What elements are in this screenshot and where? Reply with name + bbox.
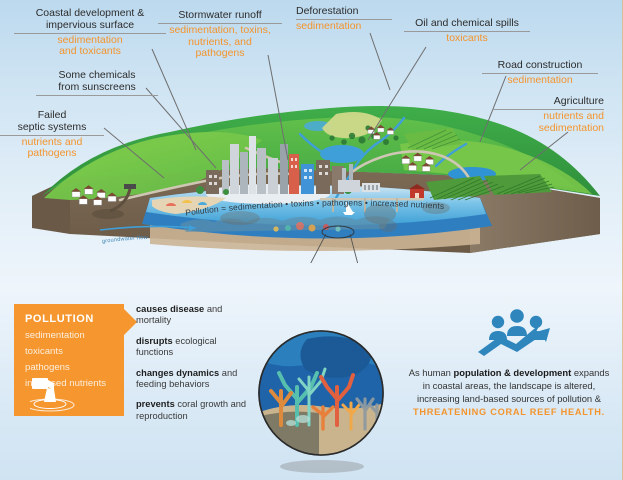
callout-sub: toxicants <box>404 33 530 45</box>
callout-coastal-development: Coastal development & impervious surface… <box>14 8 166 58</box>
effect-item: disrupts ecological functions <box>136 336 251 359</box>
infographic-canvas: groundwater flow Pollution = sedimentati… <box>0 0 623 480</box>
statement-line-1: As human population & development expand… <box>399 366 619 379</box>
callout-title: Oil and chemical spills <box>404 18 530 30</box>
pollution-box-item-pathogens: pathogens <box>14 362 124 373</box>
callout-deforestation: Deforestation sedimentation <box>296 6 392 33</box>
effect-item: prevents coral growth and reproduction <box>136 399 251 422</box>
callout-title: Coastal development & impervious surface <box>14 8 166 32</box>
callout-agriculture: Agriculture nutrients and sedimentation <box>492 96 604 134</box>
callout-sub: nutrients and pathogens <box>0 137 104 161</box>
svg-text:groundwater flow: groundwater flow <box>102 235 149 245</box>
pollution-effects-list: causes disease and mortality disrupts ec… <box>136 304 251 431</box>
pollution-box-item-toxicants: toxicants <box>14 346 124 357</box>
statement-line-2: in coastal areas, the landscape is alter… <box>399 379 619 392</box>
pollution-summary-box: POLLUTION sedimentation toxicants pathog… <box>14 304 124 416</box>
statement-line-4-highlight: THREATENING CORAL REEF HEALTH. <box>399 406 619 419</box>
callout-title: Failed septic systems <box>0 110 104 134</box>
outfall-pipe-icon <box>30 376 96 412</box>
callout-road-construction: Road construction sedimentation <box>482 60 598 87</box>
effect-strong: disrupts <box>136 336 173 346</box>
pollution-box-title: POLLUTION <box>14 304 124 325</box>
statement-text: expands <box>571 367 609 378</box>
callout-sub: sedimentation, toxins, nutrients, and pa… <box>158 25 282 60</box>
callout-title: Deforestation <box>296 6 392 18</box>
population-growth-icon <box>472 308 562 356</box>
callout-title: Agriculture <box>492 96 604 108</box>
statement-emphasis: population & development <box>454 367 572 378</box>
callout-title: Road construction <box>482 60 598 72</box>
statement-text: As human <box>409 367 454 378</box>
callout-sunscreen-chemicals: Some chemicals from sunscreens <box>36 70 158 97</box>
pollution-box-item-sedimentation: sedimentation <box>14 330 124 341</box>
callout-rule <box>36 95 158 96</box>
effect-item: changes dynamics and feeding behaviors <box>136 368 251 391</box>
callout-sub: sedimentation <box>482 75 598 87</box>
groundwater-label: groundwater flow <box>102 235 149 245</box>
statement-line-3: increasing land-based sources of polluti… <box>399 392 619 405</box>
population-statement: As human population & development expand… <box>399 366 619 419</box>
callout-sub: sedimentation and toxicants <box>14 35 166 59</box>
effect-strong: prevents <box>136 399 175 409</box>
callout-oil-chemical-spills: Oil and chemical spills toxicants <box>404 18 530 45</box>
effect-strong: changes dynamics <box>136 368 219 378</box>
coral-reef-inset <box>257 329 385 457</box>
effect-strong: causes disease <box>136 304 204 314</box>
callout-title: Some chemicals from sunscreens <box>36 70 158 94</box>
reef-inset-shadow <box>280 460 364 473</box>
callout-sub: sedimentation <box>296 21 392 33</box>
callout-sub: nutrients and sedimentation <box>492 111 604 135</box>
callout-failed-septic: Failed septic systems nutrients and path… <box>0 110 104 160</box>
callout-title: Stormwater runoff <box>158 10 282 22</box>
callout-stormwater-runoff: Stormwater runoff sedimentation, toxins,… <box>158 10 282 60</box>
effect-item: causes disease and mortality <box>136 304 251 327</box>
